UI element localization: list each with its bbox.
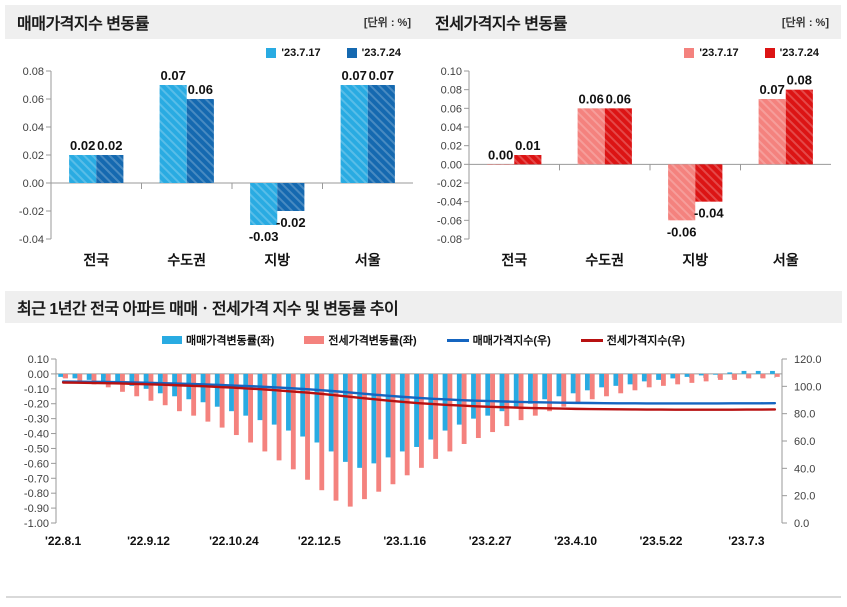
svg-text:-0.06: -0.06 [667,224,697,239]
svg-text:0.07: 0.07 [760,82,785,97]
svg-text:'22.9.12: '22.9.12 [127,534,170,548]
trend-chart-legend: 매매가격변동률(좌) 전세가격변동률(좌) 매매가격지수(우) 전세가격지수(우… [0,329,847,351]
legend-item-sale-index: 매매가격지수(우) [447,332,551,348]
svg-text:'23.4.10: '23.4.10 [554,534,597,548]
svg-text:'22.8.1: '22.8.1 [45,534,82,548]
svg-text:-0.02: -0.02 [437,178,462,190]
legend-item-jeonse-0: '23.7.17 [684,47,738,59]
svg-text:-0.04: -0.04 [19,234,44,246]
footer-divider [6,596,841,598]
legend-label: 매매가격지수(우) [473,332,551,348]
svg-text:-0.70: -0.70 [23,473,48,485]
jeonse-chart-legend: '23.7.17 '23.7.24 [423,39,841,61]
svg-text:-0.08: -0.08 [437,234,462,246]
svg-text:80.0: 80.0 [794,409,815,421]
svg-text:0.07: 0.07 [369,68,394,83]
svg-text:0.02: 0.02 [97,138,122,153]
svg-text:100.0: 100.0 [794,381,822,393]
trend-panel-header: 최근 1년간 전국 아파트 매매ㆍ전세가격 지수 및 변동률 추이 [5,291,842,323]
svg-text:60.0: 60.0 [794,436,815,448]
legend-line-icon [447,339,469,342]
svg-text:수도권: 수도권 [585,252,624,268]
svg-text:-0.04: -0.04 [694,206,724,221]
svg-text:0.00: 0.00 [23,178,44,190]
svg-text:0.04: 0.04 [441,122,462,134]
svg-text:-0.20: -0.20 [23,399,48,411]
svg-text:0.07: 0.07 [161,68,186,83]
svg-text:-1.00: -1.00 [23,518,48,530]
svg-text:-0.90: -0.90 [23,503,48,515]
sale-panel-unit: [단위 : %] [364,14,411,30]
top-charts-row: 매매가격지수 변동률 [단위 : %] '23.7.17 '23.7.24 -0… [0,0,847,283]
svg-text:0.08: 0.08 [787,73,812,88]
svg-text:'23.5.22: '23.5.22 [639,534,682,548]
svg-text:0.06: 0.06 [188,82,213,97]
svg-text:'23.7.3: '23.7.3 [728,534,765,548]
legend-swatch-icon [684,48,694,58]
svg-text:0.06: 0.06 [23,94,44,106]
svg-text:20.0: 20.0 [794,491,815,503]
svg-text:서울: 서울 [355,252,381,268]
svg-text:'23.1.16: '23.1.16 [383,534,426,548]
jeonse-panel-header: 전세가격지수 변동률 [단위 : %] [423,5,841,39]
svg-text:지방: 지방 [264,252,290,268]
svg-text:0.10: 0.10 [27,354,48,366]
legend-item-sale-1: '23.7.24 [347,47,401,59]
svg-text:0.02: 0.02 [23,150,44,162]
legend-item-jeonse-index: 전세가격지수(우) [581,332,685,348]
svg-text:0.07: 0.07 [342,68,367,83]
svg-text:0.10: 0.10 [441,66,462,78]
jeonse-panel-title: 전세가격지수 변동률 [435,10,567,34]
legend-swatch-icon [347,48,357,58]
svg-text:0.02: 0.02 [70,138,95,153]
legend-item-sale-rate: 매매가격변동률(좌) [162,332,274,348]
svg-text:'23.2.27: '23.2.27 [468,534,511,548]
svg-text:-0.04: -0.04 [437,197,462,209]
svg-text:0.01: 0.01 [515,138,540,153]
legend-item-jeonse-rate: 전세가격변동률(좌) [304,332,416,348]
legend-label: 매매가격변동률(좌) [186,332,274,348]
sale-panel-header: 매매가격지수 변동률 [단위 : %] [5,5,423,39]
svg-text:0.08: 0.08 [23,66,44,78]
svg-text:수도권: 수도권 [167,252,206,268]
sale-price-bar-chart: -0.04-0.020.000.020.040.060.080.020.02전국… [5,61,423,283]
svg-text:0.02: 0.02 [441,141,462,153]
svg-text:0.00: 0.00 [488,147,513,162]
legend-swatch-icon [266,48,276,58]
svg-text:-0.40: -0.40 [23,429,48,441]
legend-label: 전세가격변동률(좌) [328,332,416,348]
svg-text:120.0: 120.0 [794,354,822,366]
svg-text:-0.10: -0.10 [23,384,48,396]
svg-text:지방: 지방 [682,252,708,268]
svg-text:-0.60: -0.60 [23,458,48,470]
svg-text:서울: 서울 [773,252,799,268]
legend-label: '23.7.17 [699,47,738,59]
svg-text:-0.03: -0.03 [249,229,279,244]
svg-text:-0.30: -0.30 [23,414,48,426]
legend-swatch-icon [304,336,324,344]
svg-text:전국: 전국 [83,252,109,268]
svg-text:'22.10.24: '22.10.24 [209,534,259,548]
svg-text:전국: 전국 [501,252,527,268]
legend-swatch-icon [765,48,775,58]
svg-text:40.0: 40.0 [794,463,815,475]
svg-text:0.06: 0.06 [606,91,631,106]
trend-panel-title: 최근 1년간 전국 아파트 매매ㆍ전세가격 지수 및 변동률 추이 [17,295,398,319]
svg-text:0.04: 0.04 [23,122,44,134]
legend-label: '23.7.24 [362,47,401,59]
svg-text:'22.12.5: '22.12.5 [297,534,340,548]
svg-text:-0.02: -0.02 [276,215,306,230]
svg-text:-0.50: -0.50 [23,443,48,455]
jeonse-price-panel: 전세가격지수 변동률 [단위 : %] '23.7.17 '23.7.24 -0… [423,5,841,283]
jeonse-price-bar-chart: -0.08-0.06-0.04-0.020.000.020.040.060.08… [423,61,841,283]
svg-text:0.00: 0.00 [441,159,462,171]
sale-panel-title: 매매가격지수 변동률 [17,10,149,34]
legend-item-jeonse-1: '23.7.24 [765,47,819,59]
legend-label: '23.7.17 [281,47,320,59]
svg-text:0.06: 0.06 [441,103,462,115]
sale-price-panel: 매매가격지수 변동률 [단위 : %] '23.7.17 '23.7.24 -0… [5,5,423,283]
trend-combo-chart: -1.00-0.90-0.80-0.70-0.60-0.50-0.40-0.30… [4,351,844,556]
svg-text:0.08: 0.08 [441,85,462,97]
jeonse-panel-unit: [단위 : %] [782,14,829,30]
svg-text:0.06: 0.06 [579,91,604,106]
legend-swatch-icon [162,336,182,344]
legend-label: 전세가격지수(우) [607,332,685,348]
svg-text:0.0: 0.0 [794,518,809,530]
sale-chart-legend: '23.7.17 '23.7.24 [5,39,423,61]
svg-text:0.00: 0.00 [27,369,48,381]
legend-item-sale-0: '23.7.17 [266,47,320,59]
legend-line-icon [581,339,603,342]
svg-text:-0.06: -0.06 [437,215,462,227]
svg-text:-0.80: -0.80 [23,488,48,500]
legend-label: '23.7.24 [780,47,819,59]
svg-text:-0.02: -0.02 [19,206,44,218]
